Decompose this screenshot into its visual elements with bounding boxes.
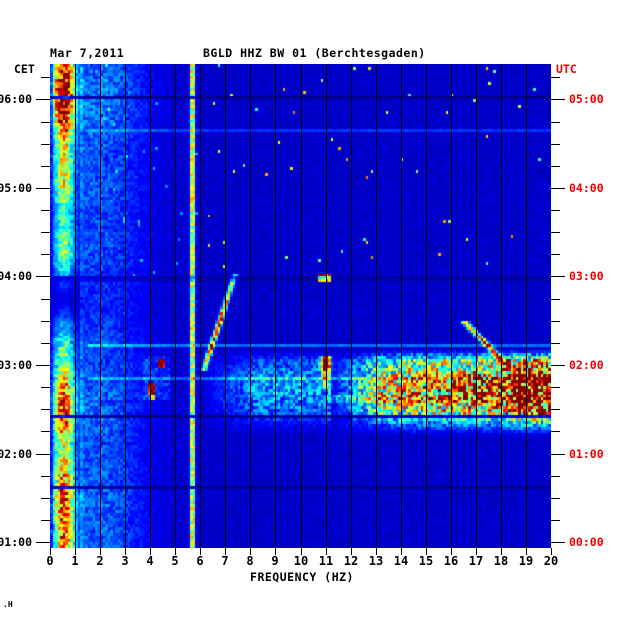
tick-left: [36, 99, 50, 100]
x-axis-tick-label: 16: [438, 554, 464, 568]
tick-left: [41, 122, 50, 123]
tick-left: [41, 409, 50, 410]
tick-right: [551, 387, 560, 388]
y-axis-label-utc: 00:00: [569, 535, 604, 549]
spectrogram-page: Mar 7,2011 BGLD HHZ BW 01 (Berchtesgaden…: [0, 0, 630, 624]
x-axis-tick-label: 14: [388, 554, 414, 568]
x-axis-tick-label: 17: [463, 554, 489, 568]
y-axis-label-utc: 05:00: [569, 92, 604, 106]
x-axis-tick-label: 13: [363, 554, 389, 568]
tick-left: [41, 387, 50, 388]
plot-date-title: Mar 7,2011: [50, 46, 124, 60]
tick-left: [41, 210, 50, 211]
x-axis-tick-label: 0: [37, 554, 63, 568]
tick-right: [551, 343, 560, 344]
tick-left: [41, 254, 50, 255]
tick-right: [551, 476, 560, 477]
y-axis-label-cet: 03:00: [0, 358, 32, 372]
right-axis-caption-utc: UTC: [556, 62, 577, 76]
tick-left: [36, 542, 50, 543]
y-axis-label-utc: 03:00: [569, 269, 604, 283]
tick-left: [36, 276, 50, 277]
tick-left: [41, 166, 50, 167]
x-axis-tick-label: 4: [137, 554, 163, 568]
tick-right: [551, 520, 560, 521]
tick-left: [41, 299, 50, 300]
x-axis-tick-label: 2: [87, 554, 113, 568]
plot-station-title: BGLD HHZ BW 01 (Berchtesgaden): [203, 46, 426, 60]
x-axis-tick-label: 11: [313, 554, 339, 568]
tick-right: [551, 321, 560, 322]
tick-left: [41, 321, 50, 322]
tick-left: [41, 144, 50, 145]
tick-left: [41, 520, 50, 521]
x-axis-tick-label: 19: [513, 554, 539, 568]
y-axis-label-utc: 01:00: [569, 447, 604, 461]
x-axis-tick-label: 12: [338, 554, 364, 568]
tick-left: [41, 232, 50, 233]
x-axis-tick-label: 8: [237, 554, 263, 568]
y-axis-label-cet: 06:00: [0, 92, 32, 106]
y-axis-label-cet: 01:00: [0, 535, 32, 549]
tick-left: [36, 454, 50, 455]
tick-left: [41, 476, 50, 477]
tick-right: [551, 498, 560, 499]
x-axis-title: FREQUENCY (HZ): [0, 570, 604, 584]
tick-right: [551, 77, 560, 78]
tick-right: [551, 210, 560, 211]
corner-artifact-glyph: .H: [3, 600, 13, 609]
tick-left: [36, 188, 50, 189]
tick-right: [551, 188, 565, 189]
tick-right: [551, 232, 560, 233]
x-axis-tick-label: 3: [112, 554, 138, 568]
tick-right: [551, 454, 565, 455]
x-axis-tick-label: 9: [262, 554, 288, 568]
y-axis-label-utc: 04:00: [569, 181, 604, 195]
x-axis-tick-label: 1: [62, 554, 88, 568]
tick-right: [551, 144, 560, 145]
tick-right: [551, 122, 560, 123]
y-axis-label-cet: 04:00: [0, 269, 32, 283]
tick-left: [41, 77, 50, 78]
x-axis-tick-label: 20: [538, 554, 564, 568]
tick-right: [551, 276, 565, 277]
left-axis-caption-cet: CET: [14, 62, 35, 76]
y-axis-label-utc: 02:00: [569, 358, 604, 372]
tick-right: [551, 299, 560, 300]
x-axis-tick-label: 18: [488, 554, 514, 568]
tick-left: [41, 498, 50, 499]
x-axis-tick-label: 6: [187, 554, 213, 568]
x-axis-tick-label: 15: [413, 554, 439, 568]
x-axis-tick-label: 7: [212, 554, 238, 568]
x-axis-tick-label: 5: [162, 554, 188, 568]
tick-right: [551, 166, 560, 167]
tick-left: [36, 365, 50, 366]
tick-right: [551, 542, 565, 543]
x-axis-tick-label: 10: [288, 554, 314, 568]
spectrogram-plot-area: [50, 64, 551, 548]
tick-right: [551, 365, 565, 366]
tick-right: [551, 254, 560, 255]
tick-left: [41, 343, 50, 344]
tick-right: [551, 409, 560, 410]
tick-right: [551, 99, 565, 100]
spectrogram-image: [50, 64, 551, 548]
y-axis-label-cet: 02:00: [0, 447, 32, 461]
y-axis-label-cet: 05:00: [0, 181, 32, 195]
tick-left: [41, 431, 50, 432]
tick-right: [551, 431, 560, 432]
